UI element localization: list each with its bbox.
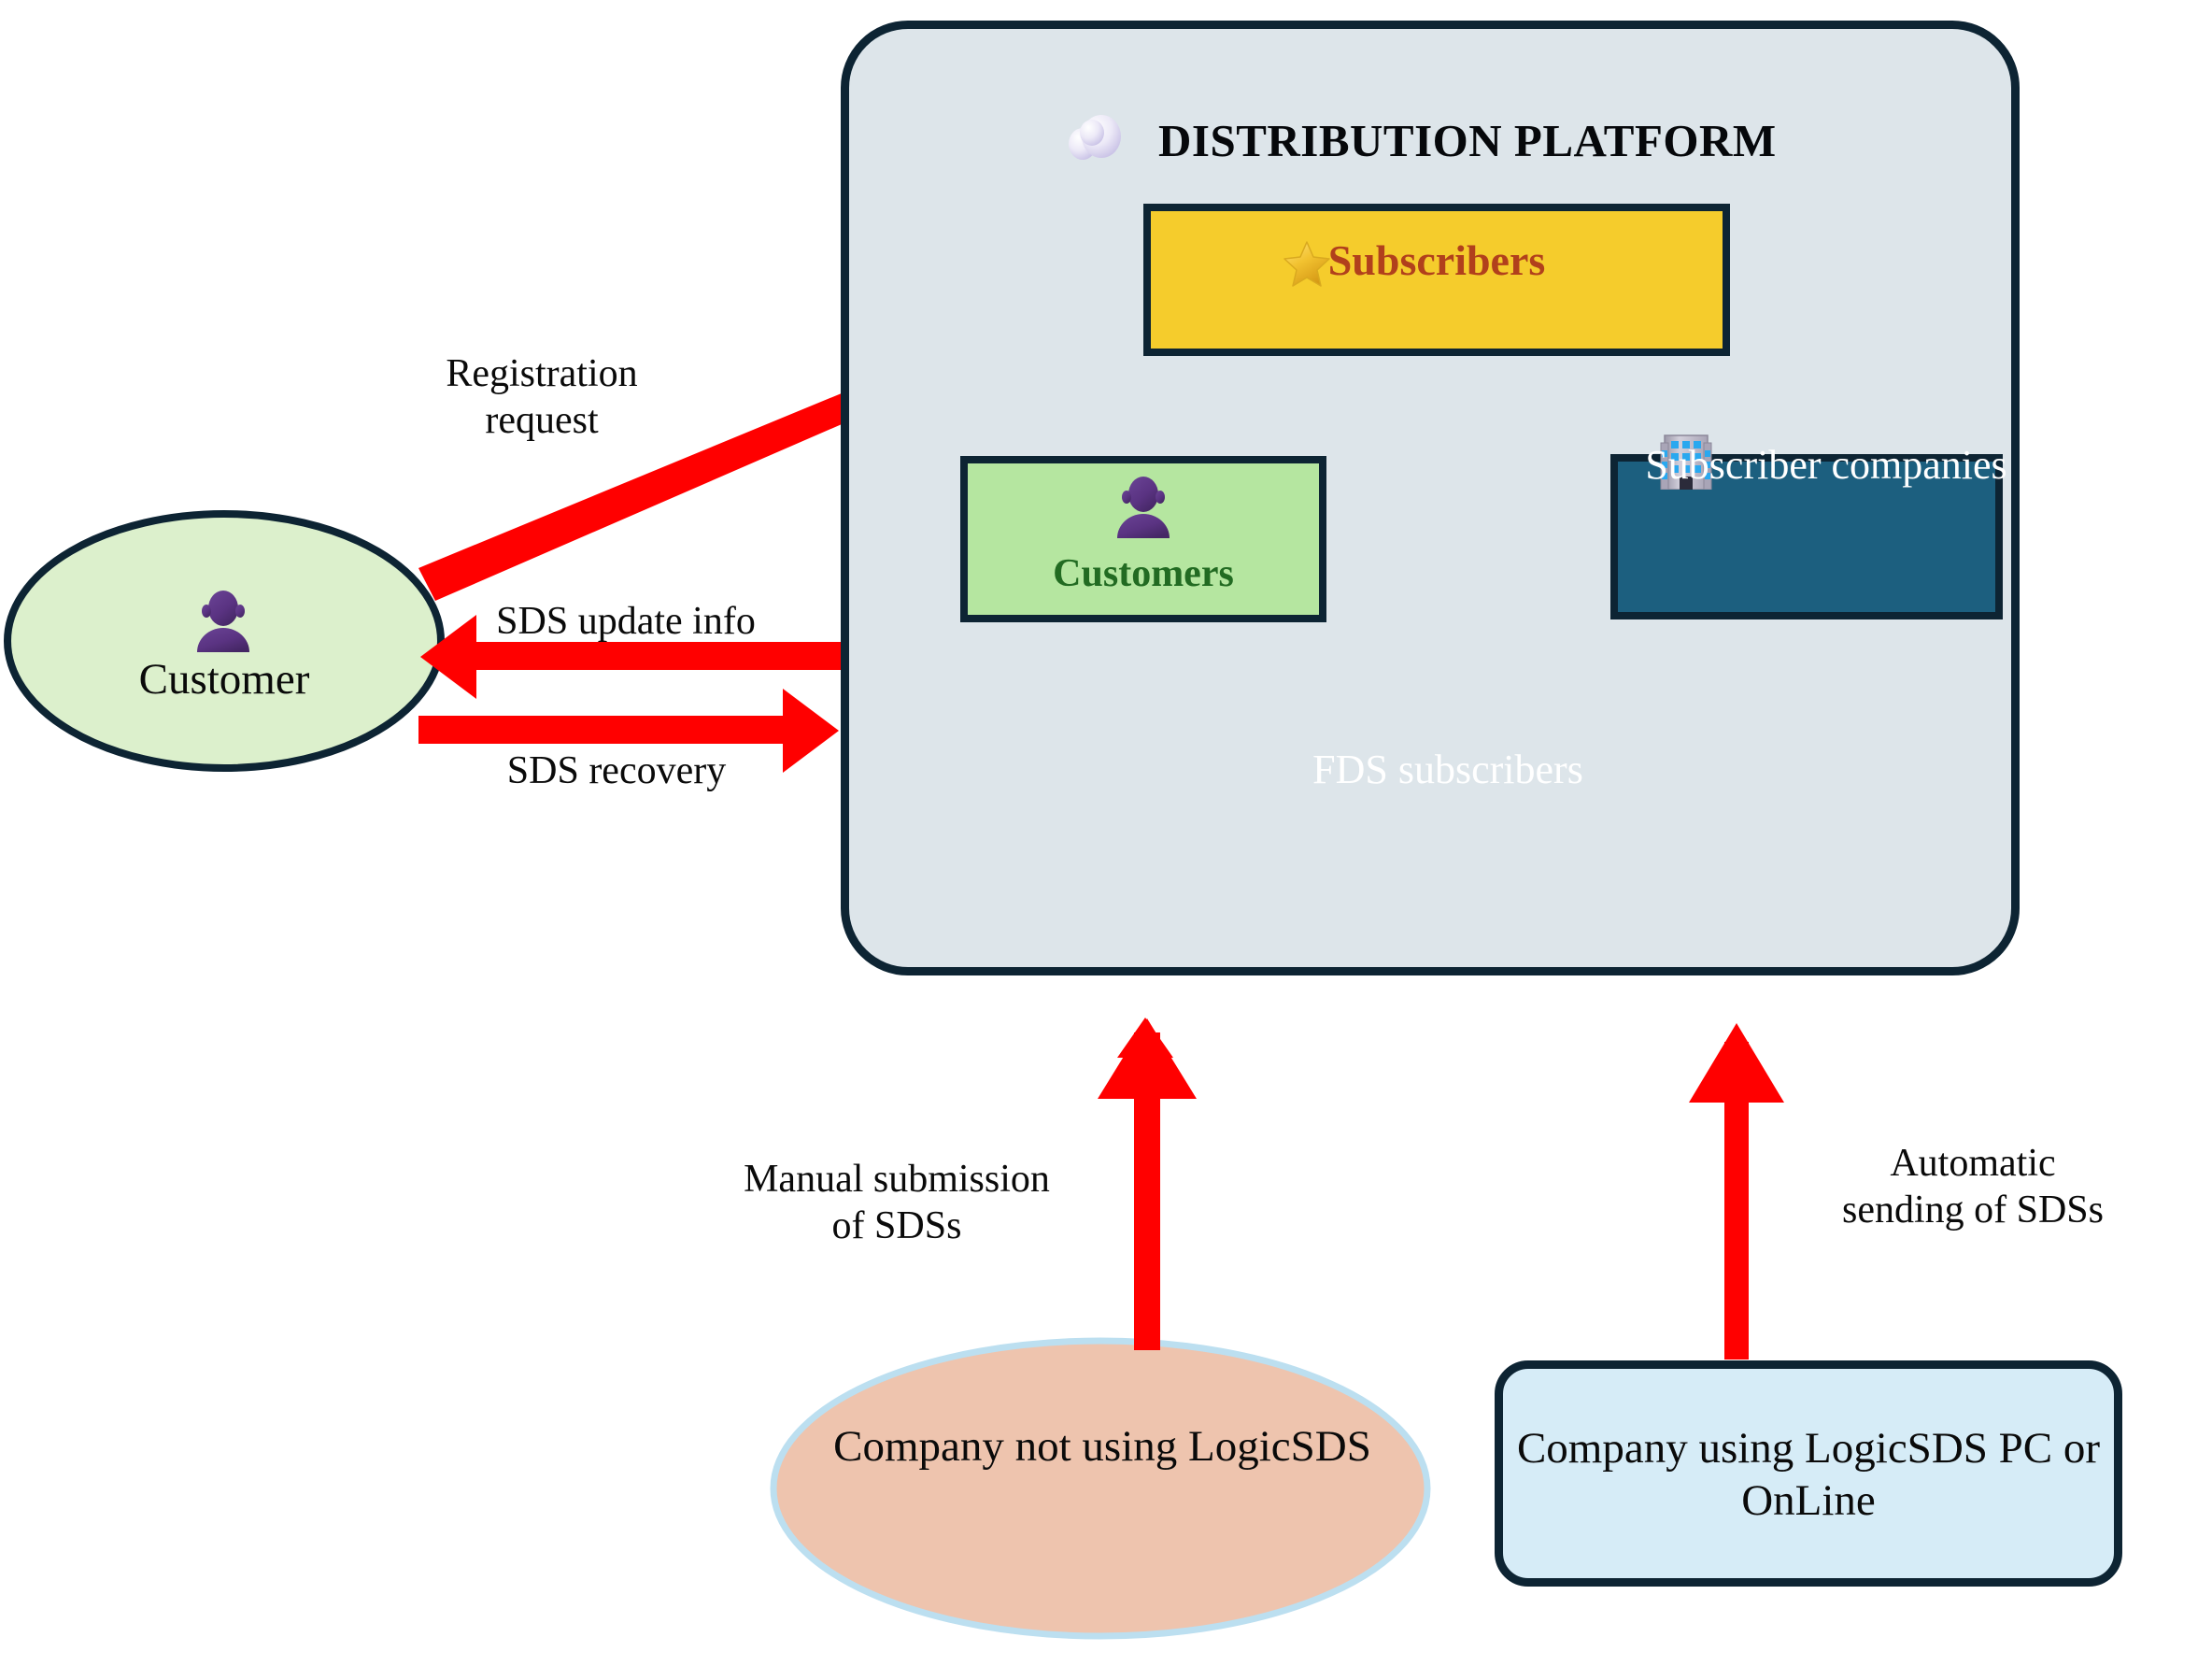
edge-label-manual-submission: Manual submission of SDSs: [710, 1156, 1084, 1250]
subscriber-companies-label: Subscriber companies: [1644, 441, 2008, 490]
arrow-manual-submission: [1098, 1018, 1197, 1350]
arrow-automatic-sending: [1689, 1023, 1784, 1360]
company-not-using-ellipse[interactable]: [773, 1341, 1427, 1636]
person-icon: [194, 589, 252, 652]
company-not-using-label: Company not using LogicSDS: [822, 1420, 1382, 1473]
diagram-canvas: DISTRIBUTION PLATFORM Subscribers Custom…: [0, 0, 2212, 1680]
customers-label: Customers: [960, 551, 1326, 596]
edge-label-automatic-sending: Automatic sending of SDSs: [1805, 1140, 2141, 1234]
edge-label-sds-recovery: SDS recovery: [458, 747, 775, 794]
fds-subscribers-label: FDS subscribers: [1289, 746, 1607, 795]
company-using-label: Company using LogicSDS PC or OnLine: [1495, 1422, 2122, 1528]
customer-label: Customer: [19, 654, 430, 705]
edge-label-sds-update-info: SDS update info: [467, 598, 785, 645]
edge-label-registration-request: Registration request: [392, 350, 691, 445]
platform-title: DISTRIBUTION PLATFORM: [1158, 114, 1868, 167]
cloud-icon: [1066, 112, 1124, 161]
person-icon: [1114, 475, 1172, 538]
subscribers-label: Subscribers: [1143, 235, 1730, 285]
